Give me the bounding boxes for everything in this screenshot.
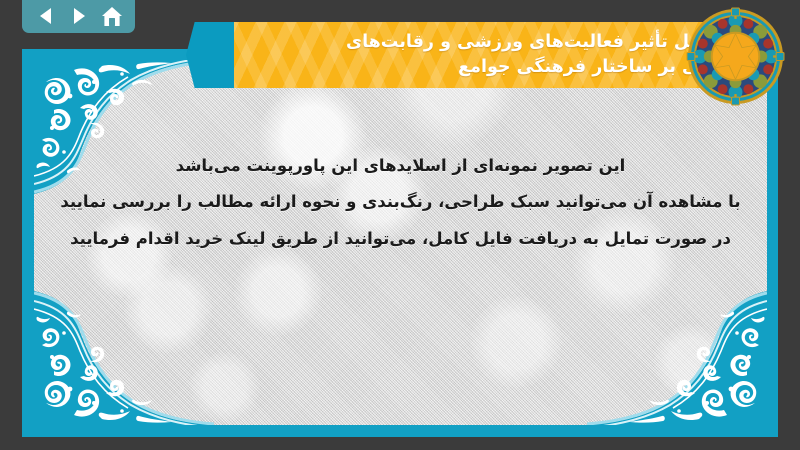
bokeh-light	[190, 352, 260, 422]
home-icon	[101, 6, 123, 27]
slide-body-text: این تصویر نمونه‌ای از اسلایدهای این پاور…	[58, 148, 743, 257]
navigation-bar	[22, 0, 135, 33]
body-line-2: با مشاهده آن می‌توانید سبک طراحی، رنگ‌بن…	[58, 184, 743, 220]
bokeh-light	[234, 248, 322, 336]
slide-stage: این تصویر نمونه‌ای از اسلایدهای این پاور…	[0, 0, 800, 450]
body-line-1: این تصویر نمونه‌ای از اسلایدهای این پاور…	[58, 148, 743, 184]
slide-frame: این تصویر نمونه‌ای از اسلایدهای این پاور…	[22, 49, 778, 437]
home-button[interactable]	[99, 4, 125, 28]
triangle-right-icon	[69, 6, 89, 26]
slide-content-area: این تصویر نمونه‌ای از اسلایدهای این پاور…	[34, 60, 767, 425]
banner-arrow-tab	[186, 22, 234, 88]
bokeh-light	[470, 296, 562, 388]
slide-title-banner: تحلیل تأثیر فعالیت‌های ورزشی و رقابت‌های…	[227, 22, 745, 88]
islamic-medallion-icon	[686, 7, 785, 106]
next-slide-button[interactable]	[66, 4, 92, 28]
bokeh-light	[124, 265, 212, 353]
triangle-left-icon	[36, 6, 56, 26]
arabesque-corner-bottom-left-icon	[34, 285, 214, 425]
page-title: تحلیل تأثیر فعالیت‌های ورزشی و رقابت‌های…	[237, 30, 723, 81]
previous-slide-button[interactable]	[33, 4, 59, 28]
arabesque-corner-bottom-right-icon	[587, 285, 767, 425]
bokeh-light	[654, 324, 728, 398]
body-line-3: در صورت تمایل به دریافت فایل کامل، می‌تو…	[58, 221, 743, 257]
